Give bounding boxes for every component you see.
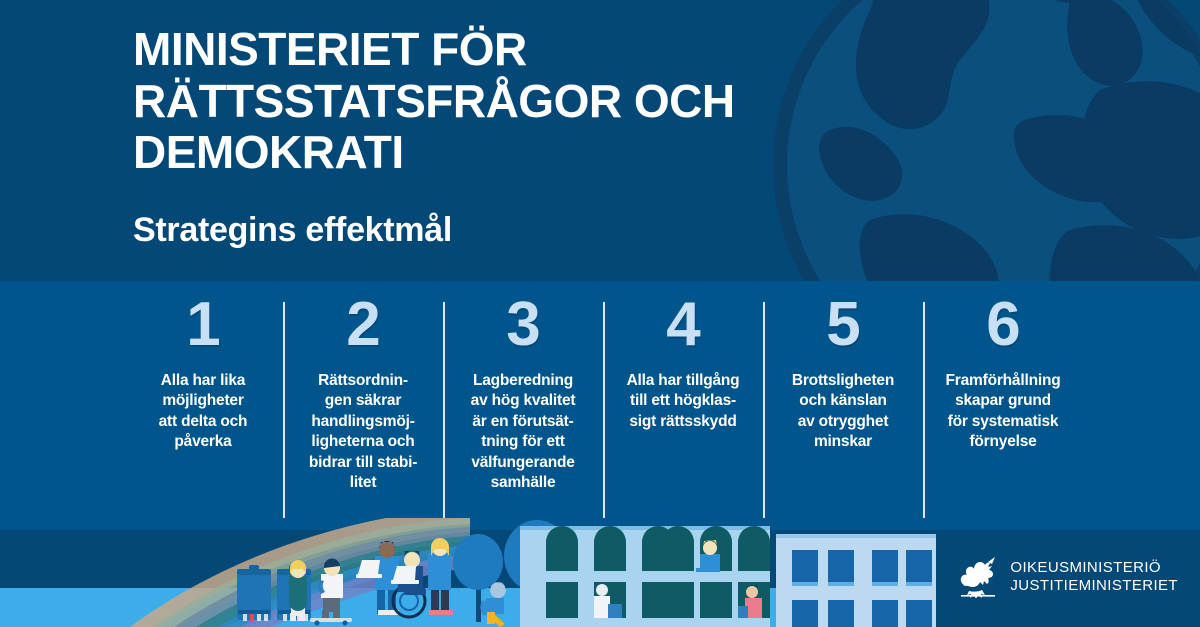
goal-number: 1 (132, 296, 274, 355)
goal-description: Rättsordnin- gen säkrar handlingsmöj- li… (292, 371, 434, 494)
pedestrian-figure (289, 560, 307, 621)
goal-description: Lagberedning av hög kvalitet är en förut… (452, 371, 594, 494)
goal-item-6: 6 Framförhållning skapar grund för syste… (923, 296, 1083, 522)
goal-item-2: 2 Rättsordnin- gen säkrar handlingsmöj- … (283, 296, 443, 522)
goal-number: 6 (932, 296, 1074, 355)
goal-number: 3 (452, 296, 594, 355)
goal-description: Alla har tillgång till ett högklas- sigt… (612, 371, 754, 432)
office-building (776, 534, 936, 627)
ministry-logo: OIKEUSMINISTERIÖ JUSTITIEMINISTERIET (955, 556, 1178, 598)
goal-item-3: 3 Lagberedning av hög kvalitet är en för… (443, 296, 603, 522)
goal-item-5: 5 Brottsligheten och känslan av otrygghe… (763, 296, 923, 522)
ministry-logo-text: OIKEUSMINISTERIÖ JUSTITIEMINISTERIET (1010, 559, 1178, 596)
page-title: MINISTERIET FÖR RÄTTSSTATSFRÅGOR OCH DEM… (133, 24, 833, 179)
goal-number: 5 (772, 296, 914, 355)
goal-number: 2 (292, 296, 434, 355)
globe-watermark-icon (770, 0, 1200, 281)
goal-item-1: 1 Alla har lika möjligheter att delta oc… (123, 296, 283, 522)
goal-item-4: 4 Alla har tillgång till ett högklas- si… (603, 296, 763, 522)
arched-window-building (520, 526, 770, 627)
goal-description: Framförhållning skapar grund för systema… (932, 371, 1074, 453)
finnish-lion-crest-icon (955, 556, 999, 598)
infographic-poster: MINISTERIET FÖR RÄTTSSTATSFRÅGOR OCH DEM… (0, 0, 1200, 627)
goal-number: 4 (612, 296, 754, 355)
goals-list: 1 Alla har lika möjligheter att delta oc… (123, 296, 1083, 522)
goal-description: Alla har lika möjligheter att delta och … (132, 371, 274, 453)
goal-description: Brottsligheten och känslan av otrygghet … (772, 371, 914, 453)
page-subtitle: Strategins effektmål (133, 211, 452, 250)
